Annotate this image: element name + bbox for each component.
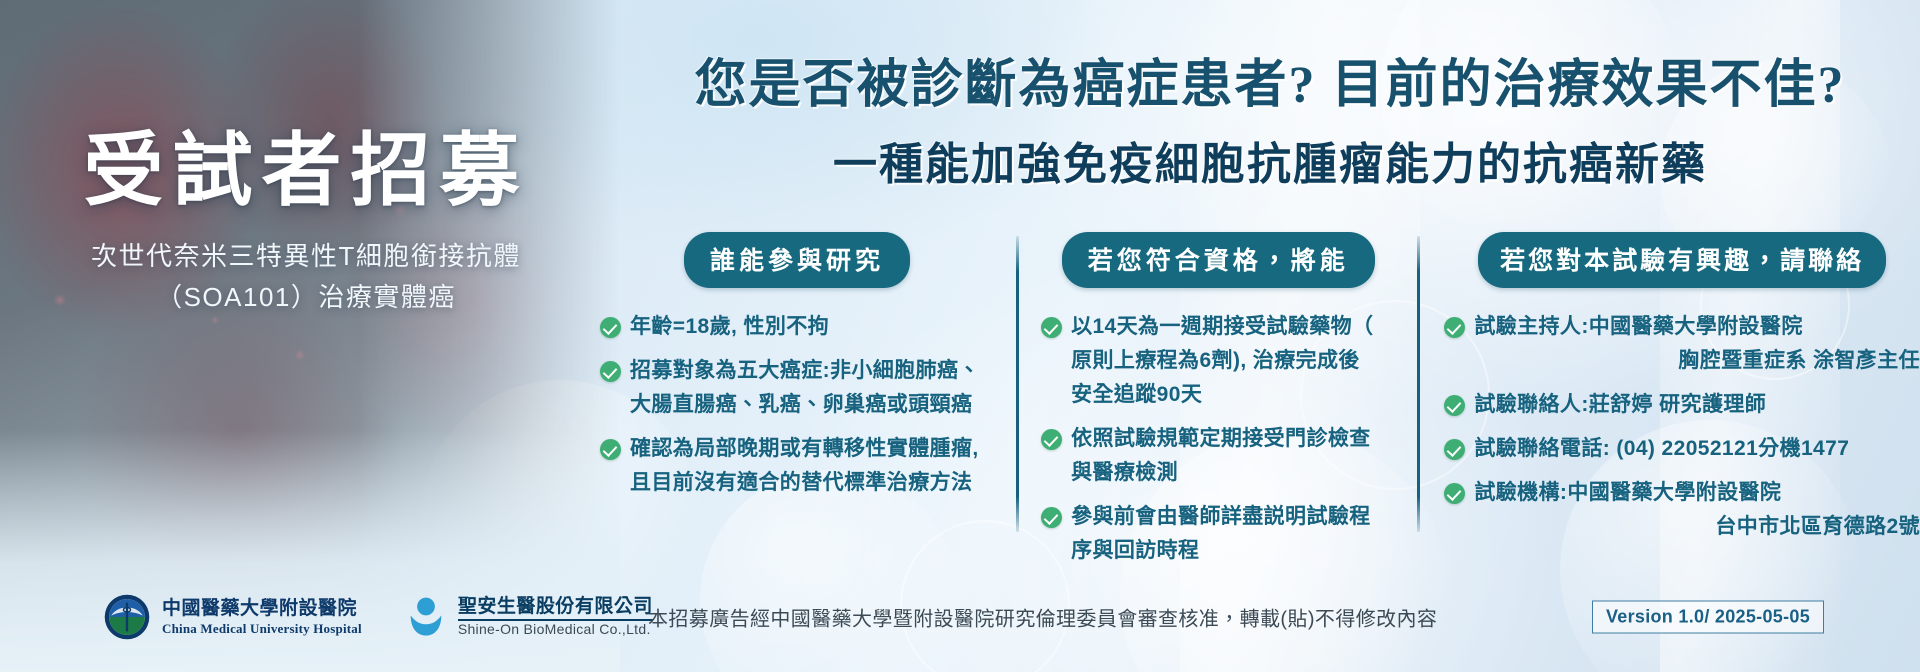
headline-primary: 您是否被診斷為癌症患者? 目前的治療效果不佳? (620, 42, 1920, 117)
version-badge: Version 1.0/ 2025-05-05 (1592, 601, 1824, 634)
ethics-disclaimer: 本招募廣告經中國醫藥大學暨附設醫院研究倫理委員會審查核准，轉載(貼)不得修改內容 (648, 603, 1437, 632)
check-circle-icon (600, 361, 621, 382)
check-circle-icon (1041, 317, 1062, 338)
check-circle-icon (1444, 483, 1465, 504)
column-header-row: 若您對本試驗有興趣，請聯絡 (1444, 232, 1920, 288)
bullet-list-eligibility: 年齡=18歲, 性別不拘 招募對象為五大癌症:非小細胞肺癌、 大腸直腸癌、乳癌、… (600, 310, 994, 500)
recruitment-banner: 受試者招募 次世代奈米三特異性T細胞銜接抗體 （SOA101）治療實體癌 您是否… (0, 0, 1920, 672)
info-columns: 誰能參與研究 年齡=18歲, 性別不拘 招募對象為五大癌症:非小細胞肺癌、 大腸… (600, 232, 1920, 572)
column-benefits: 若您符合資格，將能 以14天為一週期接受試驗藥物（ 原則上療程為6劑), 治療完… (1019, 232, 1417, 578)
column-contact: 若您對本試驗有興趣，請聯絡 試驗主持人:中國醫藥大學附設醫院 胸腔暨重症系 涂智… (1420, 232, 1920, 554)
list-item: 以14天為一週期接受試驗藥物（ 原則上療程為6劑), 治療完成後 安全追蹤90天 (1041, 310, 1395, 412)
bullet-text: 年齡=18歲, 性別不拘 (630, 310, 994, 344)
logo-cmuh: 中國醫藥大學附設醫院 China Medical University Hosp… (104, 594, 362, 640)
headline-secondary: 一種能加強免疫細胞抗腫瘤能力的抗癌新藥 (620, 128, 1920, 192)
list-item: 招募對象為五大癌症:非小細胞肺癌、 大腸直腸癌、乳癌、卵巢癌或頭頸癌 (600, 354, 994, 422)
logo-group: 中國醫藥大學附設醫院 China Medical University Hosp… (0, 594, 653, 640)
column-header-contact: 若您對本試驗有興趣，請聯絡 (1478, 232, 1886, 288)
bokeh-circle (1380, 0, 1680, 240)
logo-cmuh-name-cn: 中國醫藥大學附設醫院 (162, 598, 362, 620)
list-item: 年齡=18歲, 性別不拘 (600, 310, 994, 344)
check-circle-icon (1444, 439, 1465, 460)
bullet-text: 試驗聯絡人:莊舒婷 研究護理師 (1474, 388, 1920, 422)
check-circle-icon (600, 439, 621, 460)
column-eligibility: 誰能參與研究 年齡=18歲, 性別不拘 招募對象為五大癌症:非小細胞肺癌、 大腸… (600, 232, 1016, 510)
bullet-list-contact: 試驗主持人:中國醫藥大學附設醫院 胸腔暨重症系 涂智彥主任 試驗聯絡人:莊舒婷 … (1444, 310, 1920, 544)
bullet-text-phone: 試驗聯絡電話: (04) 22052121分機1477 (1474, 432, 1920, 466)
list-item: 確認為局部晚期或有轉移性實體腫瘤, 且目前沒有適合的替代標準治療方法 (600, 432, 994, 500)
logo-shineon: 聖安生醫股份有限公司 Shine-On BioMedical Co.,Ltd. (406, 596, 653, 638)
logo-shineon-text: 聖安生醫股份有限公司 Shine-On BioMedical Co.,Ltd. (458, 596, 653, 638)
bullet-text: 試驗機構:中國醫藥大學附設醫院 台中市北區育德路2號 (1474, 476, 1920, 544)
column-header-eligibility: 誰能參與研究 (684, 232, 910, 288)
hero-subtitle-line2: （SOA101）治療實體癌 (12, 277, 600, 317)
column-header-row: 若您符合資格，將能 (1041, 232, 1395, 288)
check-circle-icon (1041, 429, 1062, 450)
list-item: 試驗聯絡人:莊舒婷 研究護理師 (1444, 388, 1920, 422)
hero-subtitle: 次世代奈米三特異性T細胞銜接抗體 （SOA101）治療實體癌 (0, 236, 600, 317)
page-title: 受試者招募 (0, 128, 600, 214)
bullet-text: 試驗主持人:中國醫藥大學附設醫院 胸腔暨重症系 涂智彥主任 (1474, 310, 1920, 378)
hero-block: 受試者招募 次世代奈米三特異性T細胞銜接抗體 （SOA101）治療實體癌 (0, 128, 600, 317)
list-item: 試驗聯絡電話: (04) 22052121分機1477 (1444, 432, 1920, 466)
shineon-emblem-icon (406, 596, 446, 638)
bullet-list-benefits: 以14天為一週期接受試驗藥物（ 原則上療程為6劑), 治療完成後 安全追蹤90天… (1041, 310, 1395, 568)
column-header-row: 誰能參與研究 (600, 232, 994, 288)
bullet-text: 招募對象為五大癌症:非小細胞肺癌、 大腸直腸癌、乳癌、卵巢癌或頭頸癌 (630, 354, 994, 422)
check-circle-icon (600, 317, 621, 338)
column-header-benefits: 若您符合資格，將能 (1062, 232, 1375, 288)
bullet-text: 以14天為一週期接受試驗藥物（ 原則上療程為6劑), 治療完成後 安全追蹤90天 (1071, 310, 1395, 412)
hero-subtitle-line1: 次世代奈米三特異性T細胞銜接抗體 (12, 236, 600, 276)
bullet-text: 參與前會由醫師詳盡説明試驗程 序與回訪時程 (1071, 500, 1395, 568)
logo-cmuh-name-en: China Medical University Hospital (162, 621, 362, 636)
list-item: 參與前會由醫師詳盡説明試驗程 序與回訪時程 (1041, 500, 1395, 568)
bullet-text: 確認為局部晚期或有轉移性實體腫瘤, 且目前沒有適合的替代標準治療方法 (630, 432, 994, 500)
list-item: 試驗機構:中國醫藥大學附設醫院 台中市北區育德路2號 (1444, 476, 1920, 544)
footer: 中國醫藥大學附設醫院 China Medical University Hosp… (0, 562, 1920, 672)
logo-shineon-name-en: Shine-On BioMedical Co.,Ltd. (458, 621, 653, 638)
bullet-text: 依照試驗規範定期接受門診檢查 與醫療檢測 (1071, 422, 1395, 490)
list-item: 試驗主持人:中國醫藥大學附設醫院 胸腔暨重症系 涂智彥主任 (1444, 310, 1920, 378)
logo-cmuh-text: 中國醫藥大學附設醫院 China Medical University Hosp… (162, 598, 362, 636)
check-circle-icon (1041, 507, 1062, 528)
check-circle-icon (1444, 317, 1465, 338)
cmuh-emblem-icon (104, 594, 150, 640)
check-circle-icon (1444, 395, 1465, 416)
logo-shineon-name-cn: 聖安生醫股份有限公司 (458, 596, 653, 621)
list-item: 依照試驗規範定期接受門診檢查 與醫療檢測 (1041, 422, 1395, 490)
